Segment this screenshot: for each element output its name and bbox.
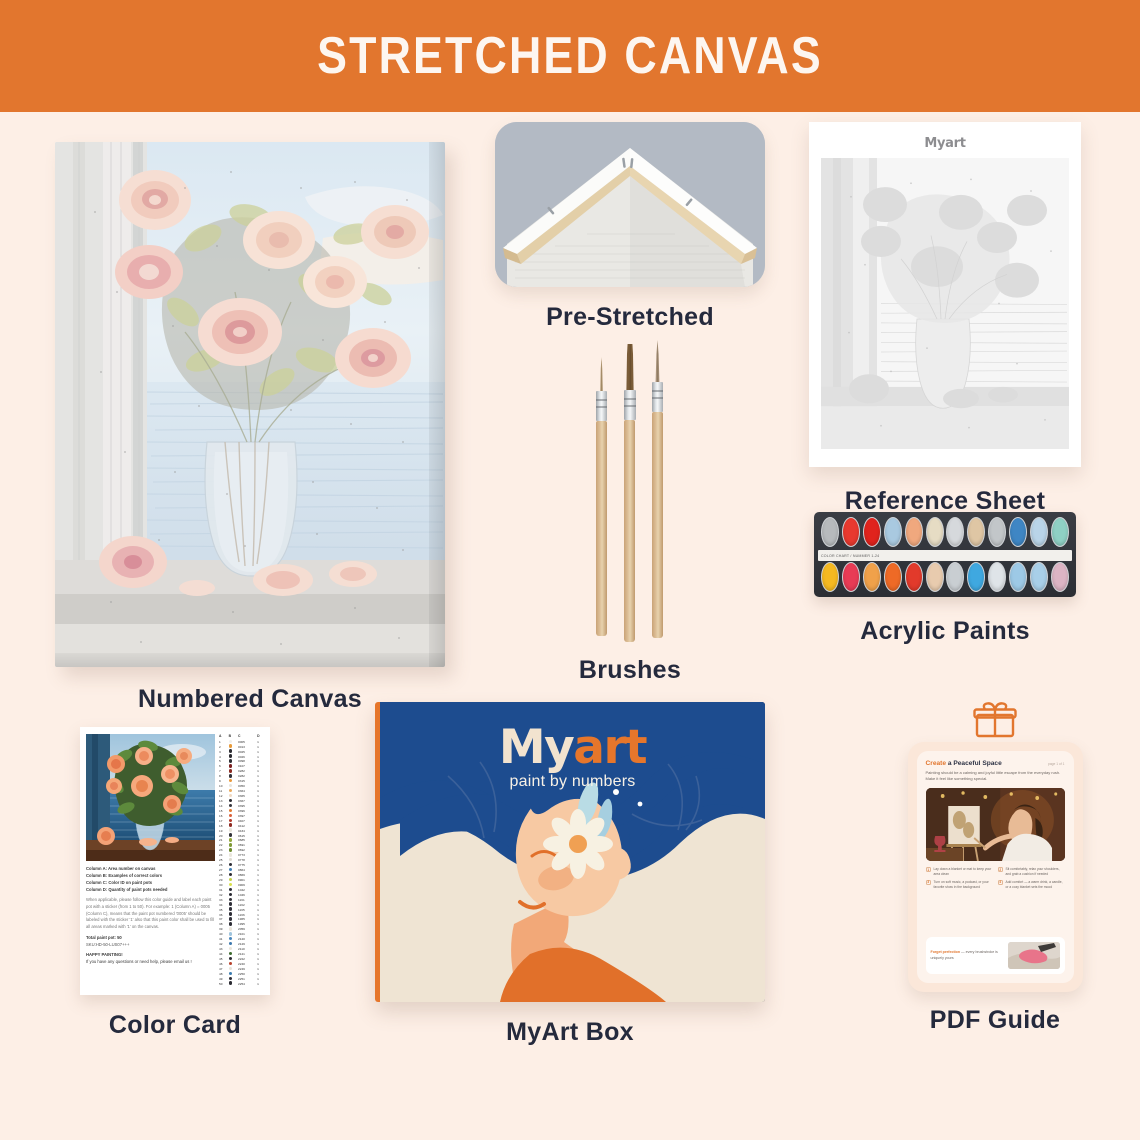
brush-ferrule [624, 390, 636, 420]
canvas-corner-illustration [495, 122, 765, 287]
paint-pot [967, 562, 985, 592]
paint-pot [988, 517, 1006, 547]
color-swatch-dot [229, 957, 232, 960]
label-pre-stretched: Pre-Stretched [480, 303, 780, 332]
color-swatch-dot [229, 740, 232, 743]
item-numbered-canvas: Numbered Canvas [40, 142, 460, 714]
paint-pot [821, 562, 839, 592]
color-swatch-dot [229, 898, 232, 901]
pdf-tip-item: 4Add comfort — a warm drink, a candle, o… [998, 880, 1065, 890]
paint-pot [821, 517, 839, 547]
pdf-tip-number: 1 [926, 867, 932, 873]
paint-pot-row-bottom [818, 562, 1072, 592]
pdf-tip-text: Add comfort — a warm drink, a candle, or… [1006, 880, 1065, 890]
color-swatch-dot [229, 843, 232, 846]
paint-pot [946, 562, 964, 592]
logo-wordmark: Myart [380, 720, 765, 775]
pdf-tip-text: Sit comfortably, relax your shoulders, a… [1006, 867, 1065, 877]
color-swatch-dot [229, 774, 232, 777]
cc-column-a: Column A: Area number on canvas [86, 866, 215, 873]
item-pre-stretched: Pre-Stretched [480, 122, 780, 332]
pdf-tip-number: 2 [998, 867, 1004, 873]
cc-total-pots: Total paint pot: 50 [86, 935, 215, 942]
pdf-tip-item: 3Turn on soft music, a podcast, or your … [926, 880, 993, 890]
reference-sheet-paper: Myart [809, 122, 1081, 467]
color-swatch-dot [229, 794, 232, 797]
color-card-painting [86, 734, 215, 861]
pdf-guide-footer: Forget perfection — every brushstroke is… [926, 937, 1065, 974]
pdf-tip-item: 2Sit comfortably, relax your shoulders, … [998, 867, 1065, 877]
myart-logo: Myart paint by numbers [380, 720, 765, 791]
canvas-bottom-edge [55, 653, 445, 667]
pdf-tip-number: 3 [926, 880, 932, 886]
label-acrylic-paints: Acrylic Paints [790, 617, 1100, 646]
color-card-row: 5022541 [219, 981, 264, 986]
label-pdf-guide: PDF Guide [880, 1006, 1110, 1035]
reference-sheet-lineart [821, 158, 1069, 449]
color-swatch-dot [229, 981, 232, 984]
color-swatch-dot [229, 883, 232, 886]
color-swatch-dot [229, 868, 232, 871]
color-swatch-dot [229, 937, 232, 940]
pdf-guide-photo [926, 788, 1065, 861]
brushstroke-thumb [1008, 942, 1060, 969]
color-swatch-dot [229, 932, 232, 935]
color-swatch-dot [229, 759, 232, 762]
color-card-sheet: Column A: Area number on canvas Column B… [80, 727, 270, 995]
color-swatch-dot [229, 799, 232, 802]
brush-ferrule [596, 391, 607, 421]
color-swatch-dot [229, 779, 232, 782]
pdf-guide-tips: 1Lay down a blanket or mat to keep your … [926, 867, 1065, 890]
pdf-footer-text: Forget perfection — every brushstroke is… [931, 950, 1004, 961]
color-swatch-dot [229, 819, 232, 822]
paint-pot [884, 562, 902, 592]
color-swatch-dot [229, 823, 232, 826]
pdf-guide-header: Create a Peaceful Space page 1 of 1 [926, 760, 1065, 767]
paint-pot [842, 517, 860, 547]
color-swatch-dot [229, 858, 232, 861]
brush-bristle-tip [623, 344, 637, 390]
color-swatch-dot [229, 952, 232, 955]
color-swatch-dot [229, 962, 232, 965]
myart-box-front: Myart paint by numbers [380, 702, 765, 1002]
paint-pot [842, 562, 860, 592]
pdf-guide-page: Create a Peaceful Space page 1 of 1 Pain… [917, 751, 1074, 983]
brush-bristle-tip [652, 340, 663, 382]
color-swatch-dot [229, 873, 232, 876]
pre-stretched-photo [495, 122, 765, 287]
pdf-guide-title: Create a Peaceful Space [926, 760, 1002, 767]
paint-tray-label: COLOR CHART / NUMMER 1-24 [818, 550, 1072, 561]
color-swatch-dot [229, 942, 232, 945]
pdf-footer-thumbnail [1008, 942, 1060, 969]
color-swatch-dot [229, 828, 232, 831]
canvas-side-edge [429, 142, 445, 667]
color-swatch-dot [229, 878, 232, 881]
product-contents-stage: Numbered Canvas [0, 112, 1140, 1140]
label-myart-box: MyArt Box [355, 1018, 785, 1047]
paint-pot-row-top [818, 517, 1072, 547]
item-reference-sheet: Myart [790, 122, 1100, 516]
gift-icon [880, 702, 1110, 738]
paint-pot [884, 517, 902, 547]
color-swatch-dot [229, 917, 232, 920]
pdf-guide-card: Create a Peaceful Space page 1 of 1 Pain… [908, 742, 1083, 992]
color-swatch-dot [229, 769, 232, 772]
paint-pot [1051, 562, 1069, 592]
pdf-tip-text: Turn on soft music, a podcast, or your f… [934, 880, 993, 890]
cc-column-b: Column B: Examples of correct colors [86, 873, 215, 880]
pdf-tip-item: 1Lay down a blanket or mat to keep your … [926, 867, 993, 877]
color-swatch-dot [229, 764, 232, 767]
brush-handle [652, 412, 663, 638]
paint-pot [1030, 562, 1048, 592]
label-color-card: Color Card [35, 1011, 315, 1040]
brush-ferrule [652, 382, 663, 412]
page-header: STRETCHED CANVAS [0, 0, 1140, 112]
paint-pot [926, 562, 944, 592]
color-swatch-dot [229, 809, 232, 812]
color-swatch-dot [229, 784, 232, 787]
paint-pot [1051, 517, 1069, 547]
color-swatch-dot [229, 922, 232, 925]
cc-cell-swatch [229, 981, 238, 986]
lineart-drawing [821, 158, 1069, 449]
logo-art: art [573, 720, 646, 775]
paint-pot [926, 517, 944, 547]
color-swatch-dot [229, 789, 232, 792]
logo-tagline: paint by numbers [380, 773, 765, 791]
color-card-instructions: Column A: Area number on canvas Column B… [86, 861, 215, 966]
paint-tray: COLOR CHART / NUMMER 1-24 [814, 512, 1076, 597]
cc-column-c: Column C: Color ID on paint pots [86, 880, 215, 887]
brush-bristle-tip [596, 357, 607, 391]
color-swatch-dot [229, 967, 232, 970]
pdf-tip-number: 4 [998, 880, 1004, 886]
cc-cell-colorid: 2254 [238, 981, 257, 986]
paint-pot [1009, 517, 1027, 547]
color-swatch-dot [229, 814, 232, 817]
color-swatch-dot [229, 907, 232, 910]
pdf-guide-description: Painting should be a calming and joyful … [926, 770, 1065, 783]
item-pdf-guide: Create a Peaceful Space page 1 of 1 Pain… [880, 702, 1110, 1035]
paint-pot [967, 517, 985, 547]
gift-box-glyph [973, 702, 1017, 738]
brushes-image [480, 357, 780, 642]
color-swatch-dot [229, 888, 232, 891]
color-swatch-dot [229, 754, 232, 757]
color-swatch-dot [229, 947, 232, 950]
color-swatch-dot [229, 972, 232, 975]
brush-handle [624, 420, 635, 642]
cc-sku: SKU:HD-50-LUS07+++ [86, 942, 215, 949]
color-swatch-dot [229, 804, 232, 807]
numbered-canvas-image [55, 142, 445, 667]
logo-my: My [499, 720, 573, 775]
color-swatch-dot [229, 893, 232, 896]
cc-column-d: Column D: Quantity of paint pots needed [86, 887, 215, 894]
color-card-photo [86, 734, 215, 861]
brush-handle [596, 421, 607, 636]
color-swatch-dot [229, 744, 232, 747]
color-card-table-body: 1000512001313002514002615009816010717028… [219, 740, 264, 987]
cc-happy-painting: HAPPY PAINTING! [86, 952, 215, 959]
reference-sheet-logo: Myart [924, 136, 965, 151]
color-card-table-column: ABCD 10005120013130025140026150098160107… [219, 734, 264, 988]
color-swatch-dot [229, 853, 232, 856]
color-swatch-dot [229, 977, 232, 980]
paint-pot [946, 517, 964, 547]
color-swatch-dot [229, 863, 232, 866]
paint-pot [1030, 517, 1048, 547]
paint-pot [1009, 562, 1027, 592]
cc-paragraph: When applicable, please follow this colo… [86, 897, 215, 932]
paint-pot [905, 517, 923, 547]
paint-pot [863, 517, 881, 547]
pdf-title-rest: a Peaceful Space [946, 760, 1002, 767]
paint-pot [905, 562, 923, 592]
cc-help-line: If you have any questions or need help, … [86, 959, 215, 966]
color-swatch-dot [229, 848, 232, 851]
cc-cell-qty: 1 [257, 981, 264, 986]
myart-box-image: Myart paint by numbers [375, 702, 765, 1002]
color-swatch-dot [229, 833, 232, 836]
canvas-artwork [55, 142, 445, 667]
pdf-page-note: page 1 of 1 [1048, 762, 1065, 766]
color-swatch-dot [229, 927, 232, 930]
paint-pot [988, 562, 1006, 592]
paint-pot [863, 562, 881, 592]
color-card-left-column: Column A: Area number on canvas Column B… [86, 734, 215, 988]
color-swatch-dot [229, 838, 232, 841]
label-brushes: Brushes [480, 656, 780, 685]
color-card-table: ABCD 10005120013130025140026150098160107… [219, 734, 264, 986]
color-swatch-dot [229, 912, 232, 915]
page-title: STRETCHED CANVAS [317, 26, 823, 86]
woman-painting-photo [926, 788, 1065, 861]
item-myart-box: Myart paint by numbers MyArt Box [355, 702, 785, 1047]
pdf-title-accent: Create [926, 760, 947, 767]
item-brushes: Brushes [480, 357, 780, 685]
color-swatch-dot [229, 902, 232, 905]
item-color-card: Column A: Area number on canvas Column B… [35, 727, 315, 1040]
cc-cell-area: 50 [219, 981, 229, 986]
pdf-tip-text: Lay down a blanket or mat to keep your a… [934, 867, 993, 877]
color-swatch-dot [229, 749, 232, 752]
pdf-footer-accent: Forget perfection [931, 950, 961, 954]
item-acrylic-paints: COLOR CHART / NUMMER 1-24 Acrylic Paints [790, 512, 1100, 646]
